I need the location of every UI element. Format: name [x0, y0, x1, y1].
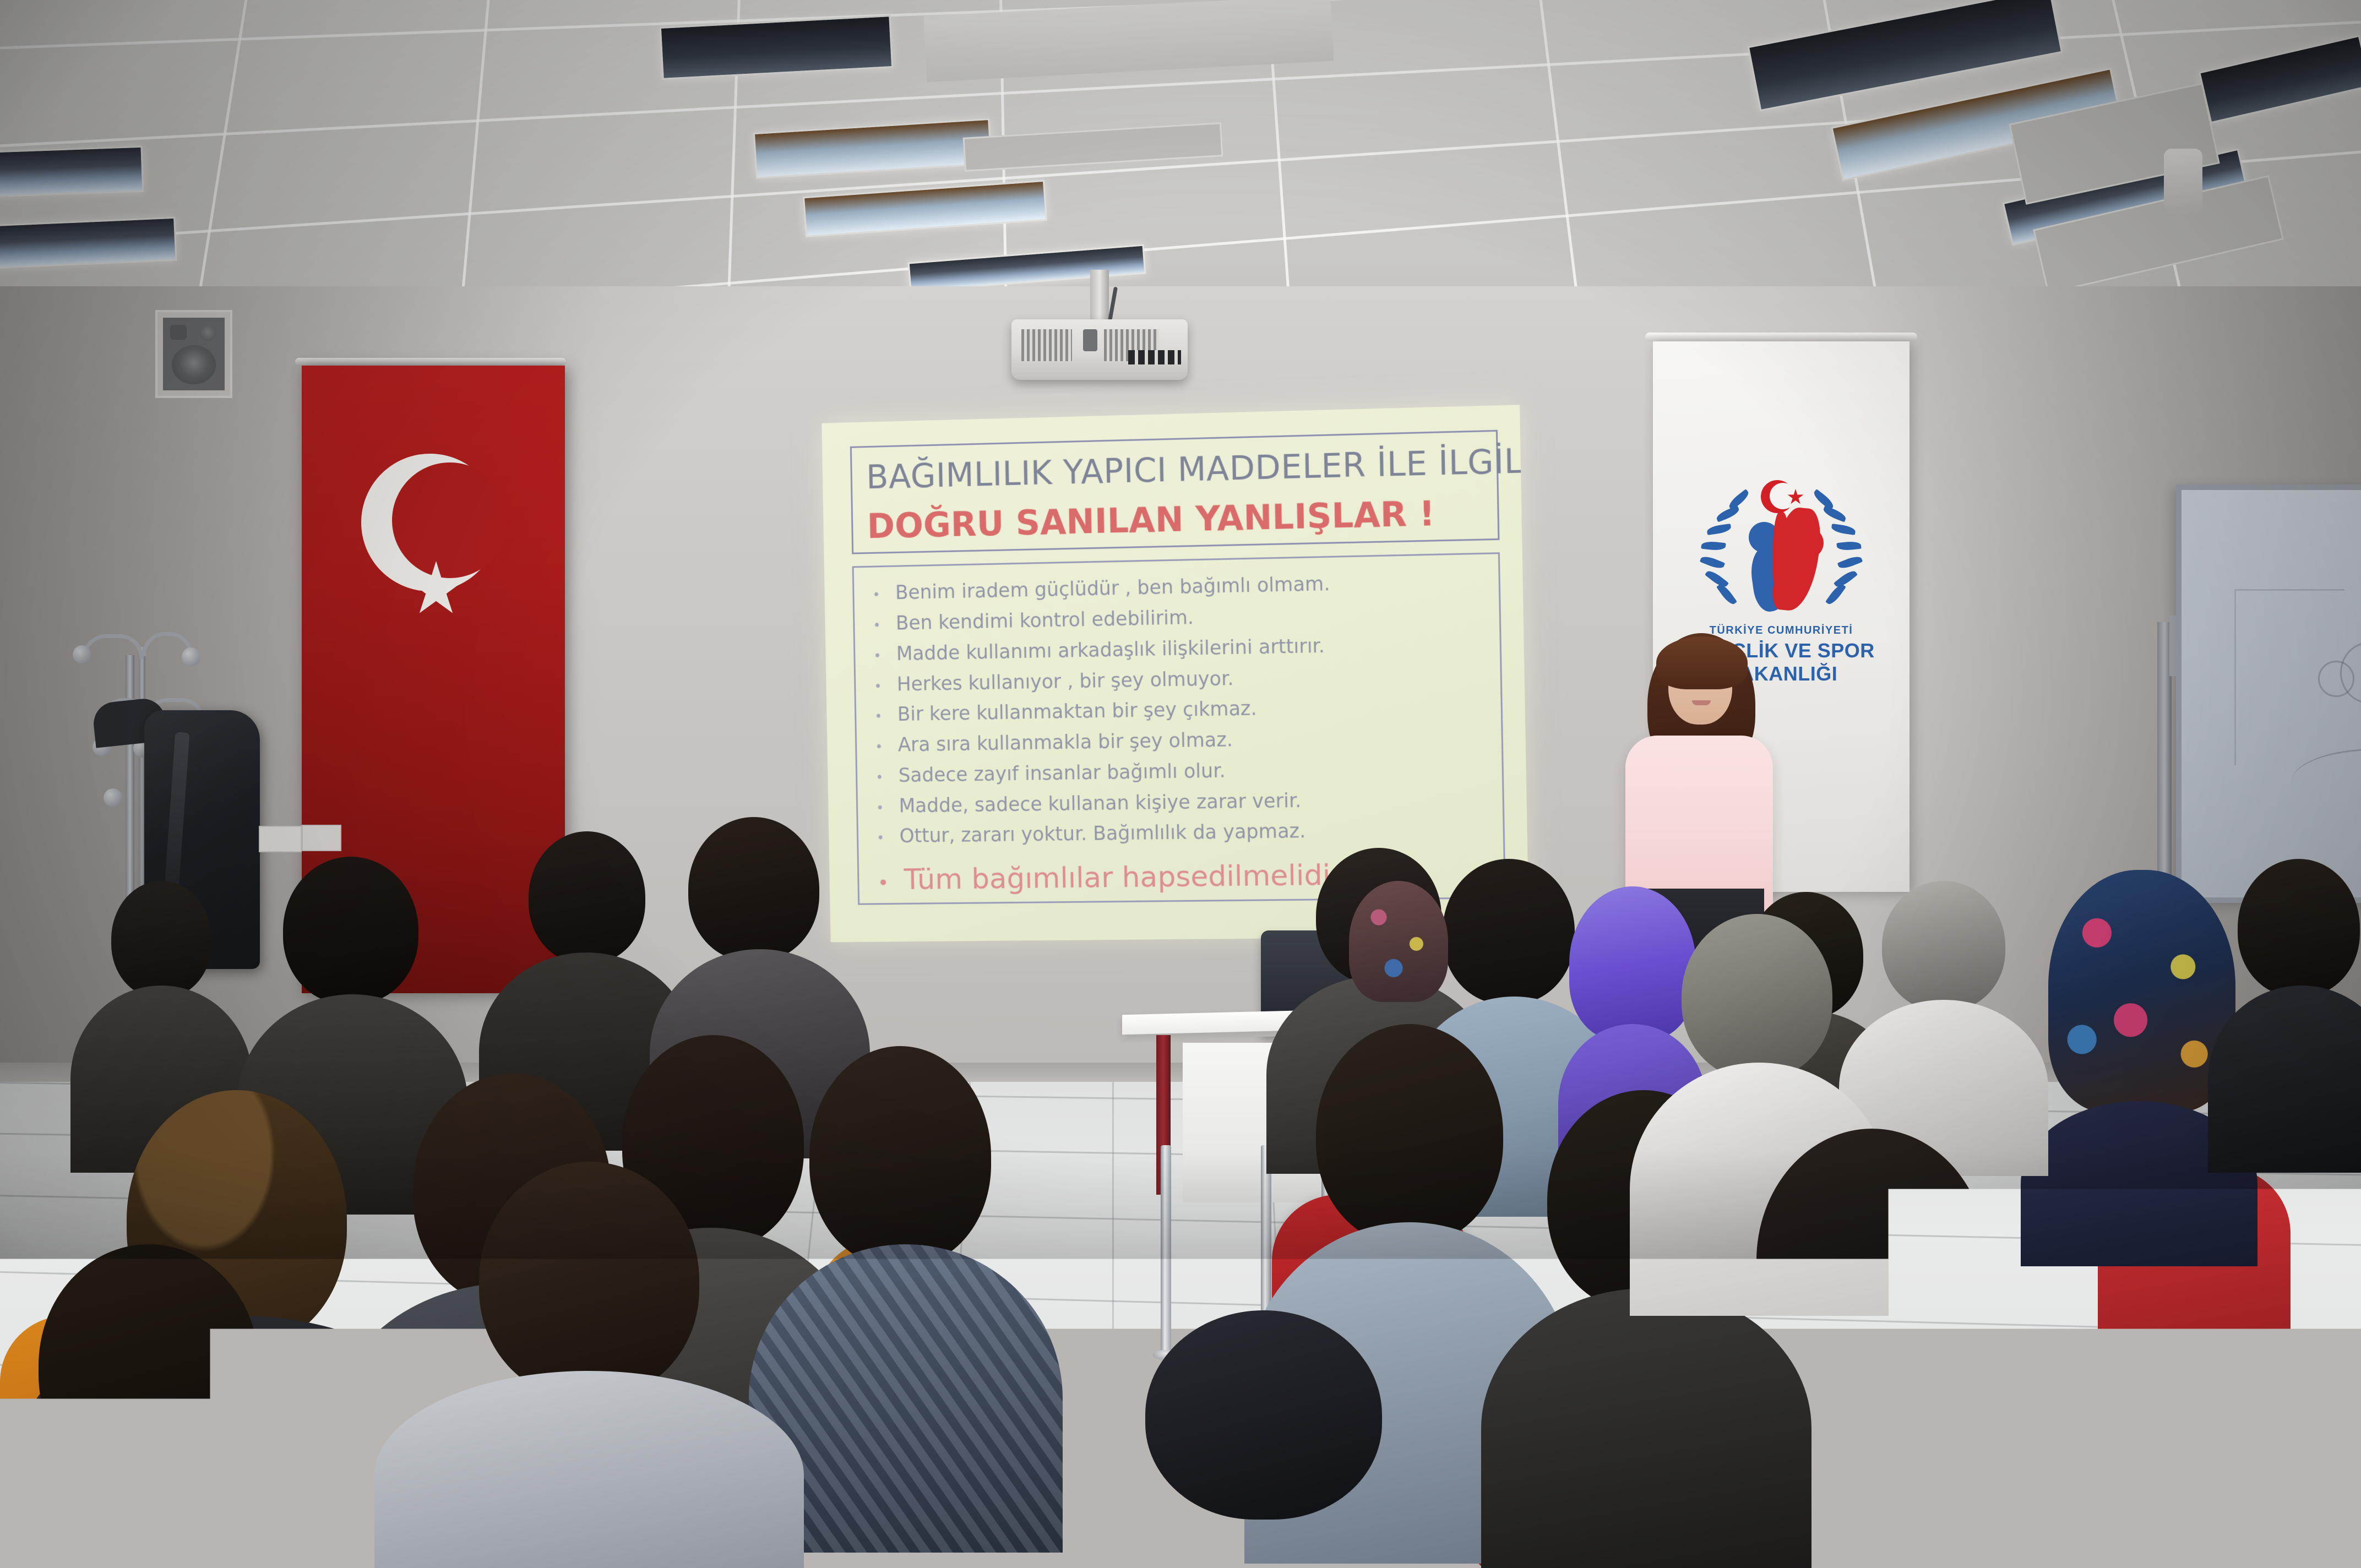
wall-outlet[interactable]: [302, 825, 341, 851]
bullet-icon: •: [874, 680, 882, 693]
banner-rod: [1645, 333, 1917, 341]
bullet-icon: •: [873, 589, 880, 602]
slide-bullet: •Benim iradem güçlüdür , ben bağımlı olm…: [872, 571, 1485, 604]
bullet-icon: •: [873, 650, 881, 663]
bullet-icon: •: [874, 710, 882, 723]
slide-bullet: •Madde kullanımı arkadaşlık ilişkilerini…: [873, 633, 1486, 665]
bullet-icon: •: [877, 874, 889, 894]
ministry-logo: [1690, 479, 1872, 622]
presenter-hair-front: [1656, 636, 1748, 689]
ceiling-projector: [1011, 319, 1188, 380]
ceiling-light-panel: [0, 217, 177, 270]
audience-member: [1949, 1200, 2324, 1568]
slide-bullet-text: Ara sıra kullanmakla bir şey olmaz.: [897, 730, 1233, 755]
crescent-icon: [361, 454, 499, 591]
crescent-icon: [1761, 480, 1794, 513]
slide-bullet: •Ottur, zararı yoktur. Bağımlılık da yap…: [877, 819, 1490, 847]
tweeter-icon: [200, 325, 216, 341]
bullet-icon: •: [873, 619, 880, 632]
slide-bullet: •Sadece zayıf insanlar bağımlı olur.: [875, 757, 1488, 786]
audience-member: [1872, 881, 2015, 1156]
coat-rack-knob-icon: [104, 788, 122, 807]
audience-member: [1063, 1310, 1448, 1568]
audience-member: [0, 1244, 308, 1568]
audience-member: [787, 1046, 1019, 1553]
smoke-detector: [2164, 149, 2202, 215]
ceiling: [0, 0, 2361, 308]
slide-bullet-text: Madde kullanımı arkadaşlık ilişkilerini …: [896, 636, 1325, 665]
bullet-icon: •: [877, 832, 884, 845]
slide-header-box: BAĞIMLILIK YAPICI MADDELER İLE İLGİLİ DO…: [850, 430, 1500, 554]
ceiling-light-panel: [0, 146, 144, 198]
wall-outlet[interactable]: [259, 826, 302, 852]
slide-bullet: •Bir kere kullanmaktan bir şey çıkmaz.: [874, 695, 1487, 726]
red-figure-head-icon: [1793, 527, 1824, 558]
woofer-icon: [172, 345, 216, 384]
slide-bullet: •Madde, sadece kullanan kişiye zarar ver…: [876, 788, 1489, 816]
audience-member: [429, 1162, 738, 1568]
projector-lens-icon: [1083, 329, 1097, 351]
projector-vent-icon: [1021, 329, 1072, 361]
slide-bullet: •Herkes kullanıyor , bir şey olmuyor.: [874, 664, 1487, 695]
seminar-room-scene: BAĞIMLILIK YAPICI MADDELER İLE İLGİLİ DO…: [0, 0, 2361, 1568]
whiteboard[interactable]: [2176, 484, 2361, 903]
speaker-grille: [163, 318, 225, 390]
slide-bullet-text: Ben kendimi kontrol edebilirim.: [896, 608, 1194, 634]
presenter-mouth: [1692, 700, 1711, 705]
slide-highlight-text: Tüm bağımlılar hapsedilmelidir.: [904, 860, 1349, 895]
projector-ports: [1128, 350, 1181, 364]
slide-bullet-text: Herkes kullanıyor , bir şey olmuyor.: [896, 669, 1233, 695]
flag-rod: [295, 358, 566, 366]
slide-title: BAĞIMLILIK YAPICI MADDELER İLE İLGİLİ: [866, 442, 1482, 498]
slide-bullet-text: Ottur, zararı yoktur. Bağımlılık da yapm…: [899, 821, 1305, 847]
coat-rack-knob-icon: [73, 645, 91, 664]
slide-bullet: •Ben kendimi kontrol edebilirim.: [873, 602, 1486, 634]
slide-bullet: •Ara sıra kullanmakla bir şey olmaz.: [875, 726, 1488, 756]
slide-bullet-text: Madde, sadece kullanan kişiye zarar veri…: [899, 791, 1301, 816]
laurel-wreath-left-icon: [1691, 493, 1762, 609]
coat-rack-knob-icon: [182, 647, 200, 666]
slide-bullet-text: Sadece zayıf insanlar bağımlı olur.: [898, 761, 1226, 786]
speaker-port-icon: [170, 325, 186, 339]
bullet-icon: •: [875, 741, 883, 754]
slide-subtitle: DOĞRU SANILAN YANLIŞLAR !: [867, 493, 1483, 546]
bullet-icon: •: [875, 771, 883, 784]
bullet-icon: •: [876, 802, 884, 815]
wall-speaker: [155, 310, 232, 398]
audience-member: [2230, 859, 2361, 1167]
banner-line-1: TÜRKİYE CUMHURİYETİ: [1710, 624, 1853, 637]
slide-bullet-text: Bir kere kullanmaktan bir şey çıkmaz.: [897, 699, 1256, 725]
slide-bullet-text: Benim iradem güçlüdür , ben bağımlı olma…: [895, 574, 1330, 603]
